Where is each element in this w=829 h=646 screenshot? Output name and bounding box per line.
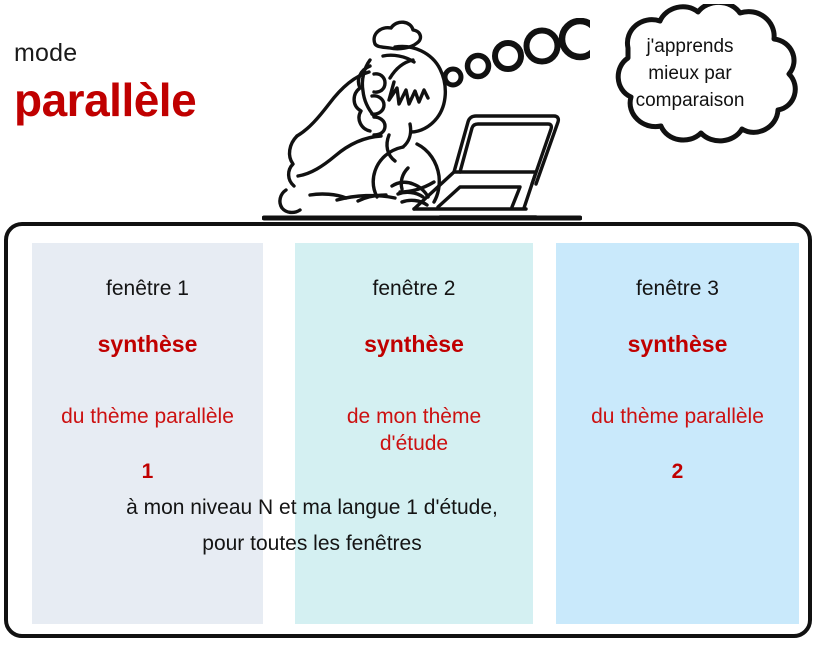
windows-container: fenêtre 1 synthèse du thème parallèle 1 …: [4, 222, 812, 638]
page-title: mode parallèle: [14, 40, 274, 126]
window-2-heading: synthèse: [295, 331, 533, 358]
window-panel-3[interactable]: fenêtre 3 synthèse du thème parallèle 2: [556, 243, 799, 624]
window-1-heading: synthèse: [32, 331, 263, 358]
window-panel-1[interactable]: fenêtre 1 synthèse du thème parallèle 1: [32, 243, 263, 624]
window-3-number: 2: [672, 460, 684, 483]
window-3-label: fenêtre 3: [556, 277, 799, 301]
header: mode parallèle: [0, 0, 829, 222]
window-1-label: fenêtre 1: [32, 277, 263, 301]
thought-bubble-text: j'apprends mieux par comparaison: [556, 34, 824, 115]
window-3-description: du thème parallèle 2: [556, 375, 799, 486]
caption-line-1: à mon niveau N et ma langue 1 d'étude,: [126, 496, 498, 519]
caption: à mon niveau N et ma langue 1 d'étude, p…: [32, 490, 592, 562]
window-2-description-text: de mon thème d'étude: [347, 405, 481, 456]
window-2-description: de mon thème d'étude: [295, 375, 533, 458]
window-2-label: fenêtre 2: [295, 277, 533, 301]
window-panel-2[interactable]: fenêtre 2 synthèse de mon thème d'étude: [295, 243, 533, 624]
title-mode-label: mode: [14, 40, 274, 68]
window-1-description: du thème parallèle 1: [32, 375, 263, 486]
windows-row: fenêtre 1 synthèse du thème parallèle 1 …: [8, 226, 808, 634]
title-parallele-label: parallèle: [14, 74, 274, 127]
caption-line-2: pour toutes les fenêtres: [32, 526, 592, 562]
window-1-description-text: du thème parallèle: [61, 405, 234, 428]
window-1-number: 1: [142, 460, 154, 483]
window-3-heading: synthèse: [556, 331, 799, 358]
window-3-description-text: du thème parallèle: [591, 405, 764, 428]
